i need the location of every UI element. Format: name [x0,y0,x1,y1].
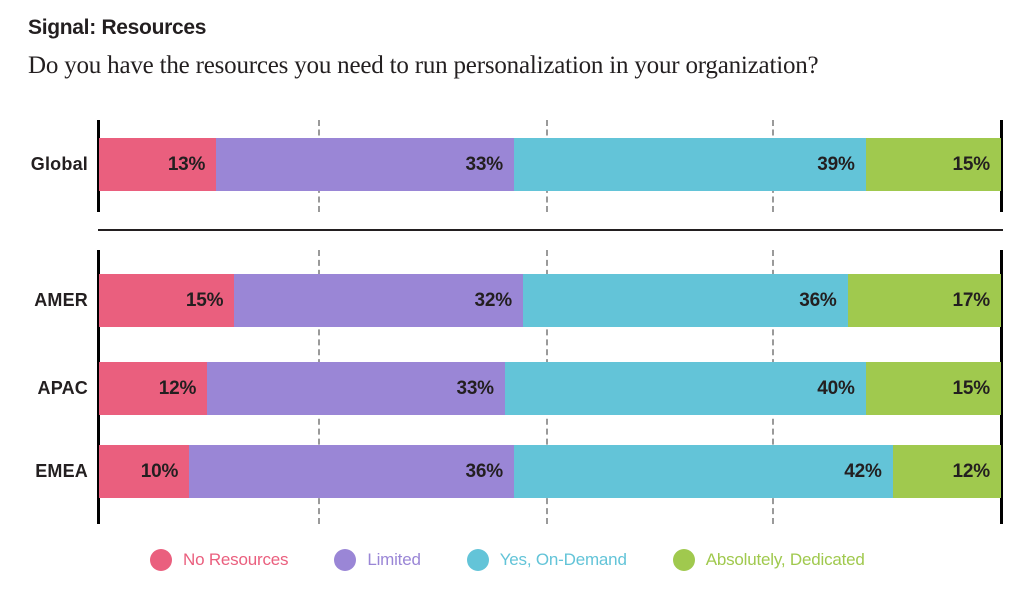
bar-segment-amer-limited[interactable]: 32% [234,274,523,327]
bar-segment-apac-absolutely-dedicated[interactable]: 15% [866,362,1001,415]
bar-segment-emea-limited[interactable]: 36% [189,445,514,498]
legend-label-absolutely-dedicated: Absolutely, Dedicated [706,550,865,570]
bar-segment-emea-yes-on-demand[interactable]: 42% [514,445,893,498]
bar-segment-global-absolutely-dedicated[interactable]: 15% [866,138,1001,191]
legend-swatch-icon-limited [334,549,356,571]
bar-segment-global-no-resources[interactable]: 13% [99,138,216,191]
bar-segment-emea-absolutely-dedicated[interactable]: 12% [893,445,1001,498]
legend-item-yes-on-demand[interactable]: Yes, On-Demand [467,549,627,571]
legend-label-no-resources: No Resources [183,550,288,570]
row-label-global: Global [0,154,88,175]
legend-swatch-icon-yes-on-demand [467,549,489,571]
legend-item-absolutely-dedicated[interactable]: Absolutely, Dedicated [673,549,865,571]
legend-swatch-icon-no-resources [150,549,172,571]
legend-label-yes-on-demand: Yes, On-Demand [500,550,627,570]
bar-segment-apac-yes-on-demand[interactable]: 40% [505,362,866,415]
row-label-apac: APAC [0,378,88,399]
bar-segment-amer-no-resources[interactable]: 15% [99,274,234,327]
bar-segment-global-yes-on-demand[interactable]: 39% [514,138,866,191]
legend-swatch-icon-absolutely-dedicated [673,549,695,571]
bar-segment-apac-limited[interactable]: 33% [207,362,505,415]
bar-segment-apac-no-resources[interactable]: 12% [99,362,207,415]
bar-segment-amer-absolutely-dedicated[interactable]: 17% [848,274,1001,327]
legend-item-no-resources[interactable]: No Resources [150,549,288,571]
bar-segment-amer-yes-on-demand[interactable]: 36% [523,274,848,327]
bar-track-apac: 12% 33% 40% 15% [99,362,1001,415]
stacked-bar-chart: Global 13% 33% 39% 15% AMER 15% 32% 36% … [0,0,1024,595]
bar-track-emea: 10% 36% 42% 12% [99,445,1001,498]
bar-track-global: 13% 33% 39% 15% [99,138,1001,191]
legend-item-limited[interactable]: Limited [334,549,420,571]
row-label-amer: AMER [0,290,88,311]
bar-segment-global-limited[interactable]: 33% [216,138,514,191]
row-label-emea: EMEA [0,461,88,482]
chart-legend: No Resources Limited Yes, On-Demand Abso… [150,543,1010,577]
bar-track-amer: 15% 32% 36% 17% [99,274,1001,327]
legend-label-limited: Limited [367,550,420,570]
group-separator-line [98,229,1003,231]
bar-segment-emea-no-resources[interactable]: 10% [99,445,189,498]
